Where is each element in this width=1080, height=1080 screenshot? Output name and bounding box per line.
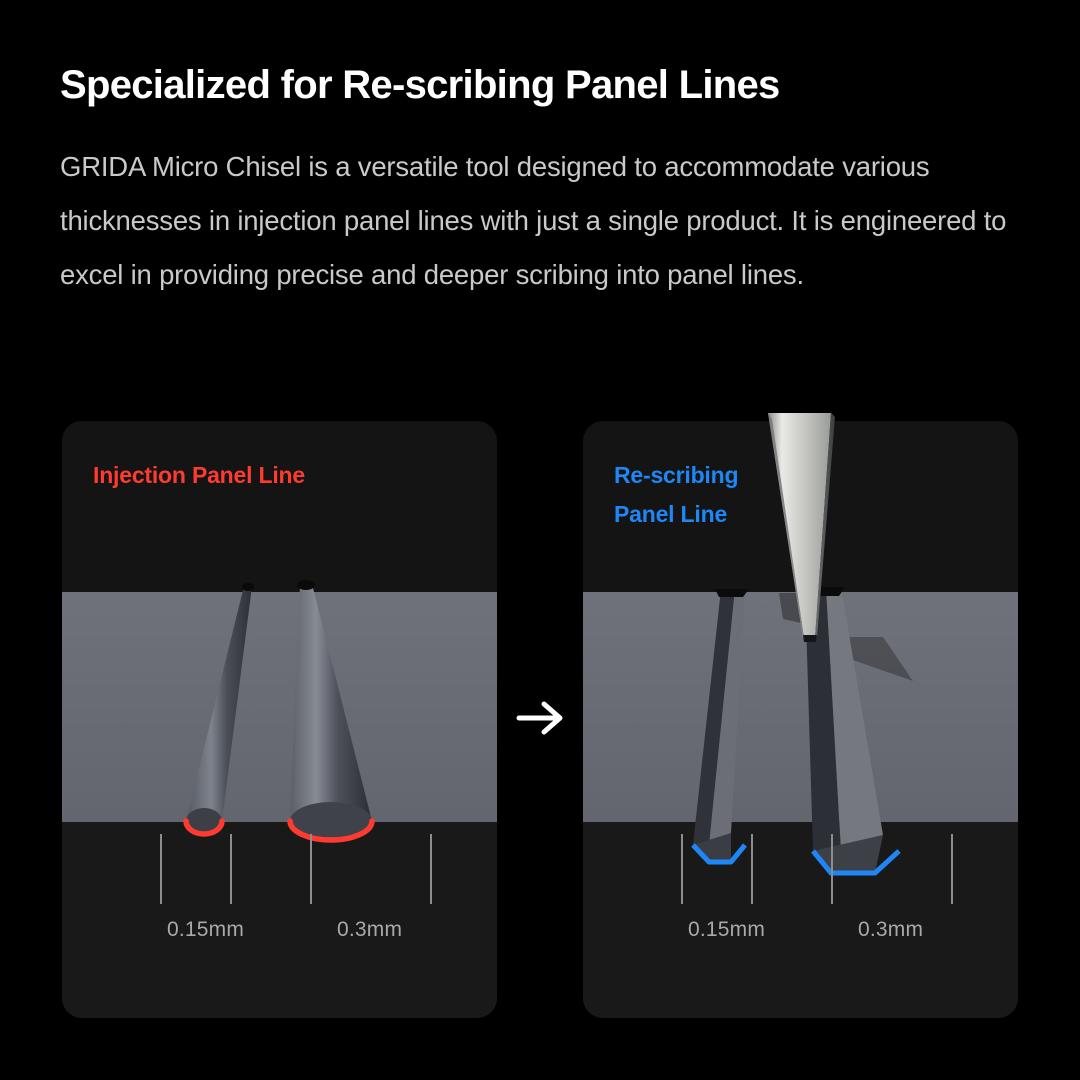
panel-injection-clip: 0.15mm 0.3mm <box>62 421 497 1018</box>
measure-tick <box>230 834 232 904</box>
measure-label-015: 0.15mm <box>688 918 765 942</box>
page-title: Specialized for Re-scribing Panel Lines <box>60 63 1020 107</box>
panel-rescribing: 0.15mm 0.3mm Re-scribing Panel Line <box>583 421 1018 1018</box>
measure-tick <box>951 834 953 904</box>
product-feature-slide: Specialized for Re-scribing Panel Lines … <box>0 0 1080 1080</box>
measure-tick <box>831 834 833 904</box>
measure-label-015: 0.15mm <box>167 918 244 942</box>
panel-label-rescribing: Re-scribing Panel Line <box>614 456 738 534</box>
measure-tick <box>751 834 753 904</box>
measure-tick <box>310 834 312 904</box>
panel-injection: 0.15mm 0.3mm Injection Panel Line <box>62 421 497 1018</box>
page-description: GRIDA Micro Chisel is a versatile tool d… <box>60 140 1010 302</box>
measure-tick <box>160 834 162 904</box>
measure-tick <box>430 834 432 904</box>
measure-tick <box>681 834 683 904</box>
measure-label-03: 0.3mm <box>337 918 402 942</box>
arrow-right-icon <box>515 697 567 739</box>
measure-label-03: 0.3mm <box>858 918 923 942</box>
groove-diagram-injection <box>62 421 497 1018</box>
panel-label-injection: Injection Panel Line <box>93 456 305 495</box>
